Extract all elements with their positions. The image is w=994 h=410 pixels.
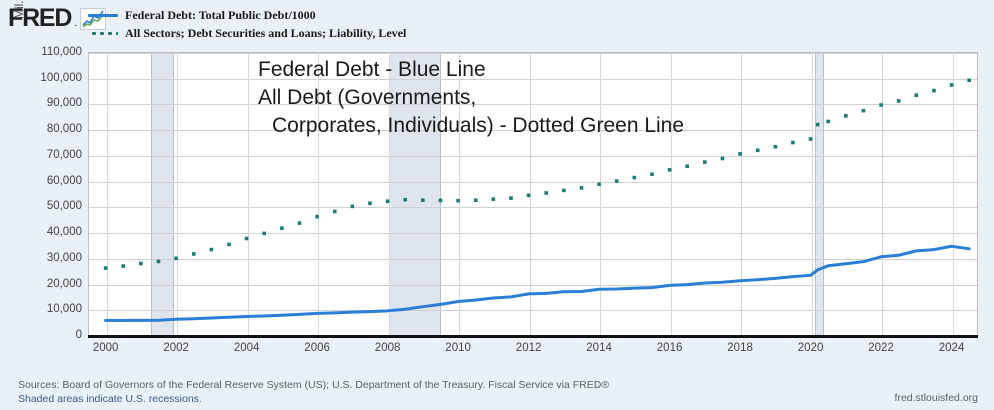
y-axis-tick-label: 90,000 [8, 97, 82, 109]
y-axis-tick-label: 30,000 [8, 252, 82, 264]
y-axis-tick-label: 10,000 [8, 303, 82, 315]
x-axis-tick-label: 2010 [445, 342, 471, 354]
x-axis-tick-label: 2014 [586, 342, 612, 354]
x-axis-tick-label: 2020 [798, 342, 824, 354]
y-axis-tick-label: 100,000 [8, 72, 82, 84]
footer-sources: Sources: Board of Governors of the Feder… [18, 378, 978, 392]
x-axis-tick-label: 2002 [163, 342, 189, 354]
series-line-federal-debt [106, 246, 970, 320]
x-axis-tick-label: 2004 [234, 342, 260, 354]
legend-label-all-sectors-debt: All Sectors; Debt Securities and Loans; … [125, 26, 406, 41]
footer-url[interactable]: fred.stlouisfed.org [895, 392, 978, 404]
x-axis-line [88, 335, 978, 338]
annotation-line-2: All Debt (Governments, [258, 84, 778, 112]
legend-item-federal-debt[interactable]: Federal Debt: Total Public Debt/1000 [88, 7, 406, 23]
y-axis-ticks: 110,000100,00090,00080,00070,00060,00050… [0, 52, 82, 335]
footer-recession-note: Shaded areas indicate U.S. recessions. [18, 392, 978, 406]
y-axis-tick-label: 70,000 [8, 149, 82, 161]
chart-header: FRED . Federal Debt: Total Public Debt/1… [0, 0, 994, 44]
legend-swatch-dotted-line-icon [88, 26, 118, 40]
chart-legend: Federal Debt: Total Public Debt/1000 All… [88, 7, 406, 43]
y-axis-tick-label: 60,000 [8, 175, 82, 187]
y-axis-tick-label: 40,000 [8, 226, 82, 238]
fred-logo-dot: . [74, 17, 77, 31]
y-axis-tick-label: 50,000 [8, 200, 82, 212]
x-axis-tick-label: 2006 [304, 342, 330, 354]
y-axis-tick-label: 0 [8, 329, 82, 341]
annotation-line-1: Federal Debt - Blue Line [258, 56, 778, 84]
y-axis-tick-label: 20,000 [8, 278, 82, 290]
chart-annotation: Federal Debt - Blue Line All Debt (Gover… [258, 56, 778, 140]
x-axis-tick-label: 2016 [657, 342, 683, 354]
x-axis-tick-label: 2022 [868, 342, 894, 354]
x-axis-tick-label: 2018 [727, 342, 753, 354]
y-axis-tick-label: 80,000 [8, 123, 82, 135]
y-axis-tick-label: 110,000 [8, 46, 82, 58]
legend-swatch-solid-line-icon [88, 8, 118, 22]
x-axis-tick-label: 2008 [375, 342, 401, 354]
x-axis-tick-label: 2024 [939, 342, 965, 354]
chart-footer: Sources: Board of Governors of the Feder… [18, 378, 978, 406]
x-axis-tick-label: 2012 [516, 342, 542, 354]
legend-item-all-sectors-debt[interactable]: All Sectors; Debt Securities and Loans; … [88, 25, 406, 41]
annotation-line-3: Corporates, Individuals) - Dotted Green … [258, 112, 778, 140]
x-axis-tick-label: 2000 [93, 342, 119, 354]
fred-chart-figure: FRED . Federal Debt: Total Public Debt/1… [0, 0, 994, 410]
legend-label-federal-debt: Federal Debt: Total Public Debt/1000 [125, 8, 316, 23]
